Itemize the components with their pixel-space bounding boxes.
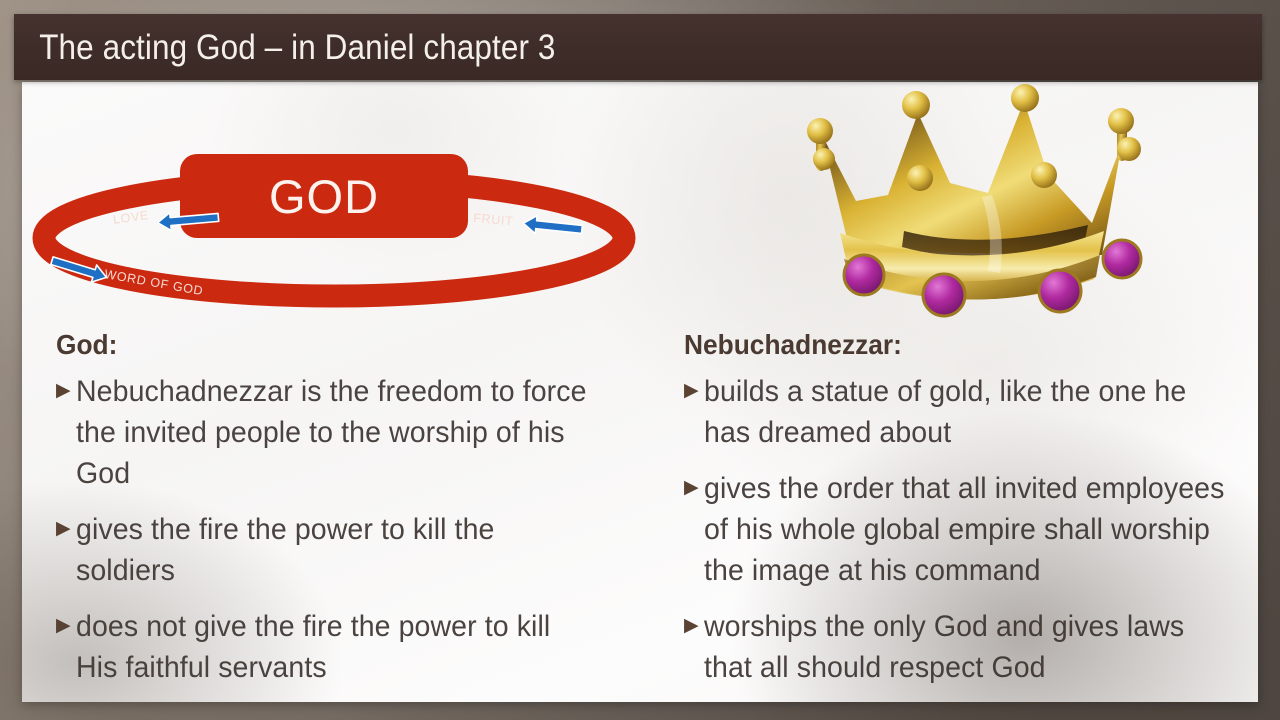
column-god-heading: God: <box>56 329 587 361</box>
list-item: ▶ builds a statue of gold, like the one … <box>684 371 1258 453</box>
crown-tip-balls <box>807 84 1141 191</box>
list-item-text: builds a statue of gold, like the one he… <box>704 371 1231 453</box>
bullet-triangle-icon: ▶ <box>56 370 76 411</box>
list-item-text: gives the order that all invited employe… <box>704 468 1231 591</box>
bullet-triangle-icon: ▶ <box>684 467 704 508</box>
bullet-triangle-icon: ▶ <box>684 370 704 411</box>
bullet-triangle-icon: ▶ <box>684 605 704 646</box>
column-god: God: ▶ Nebuchadnezzar is the freedom to … <box>56 329 621 702</box>
bullet-triangle-icon: ▶ <box>56 508 76 549</box>
list-item: ▶ gives the order that all invited emplo… <box>684 468 1258 591</box>
presentation-slide: The acting God – in Daniel chapter 3 GOD… <box>0 0 1280 720</box>
ring-label-fruit: FRUIT <box>473 211 514 228</box>
crown-icon <box>792 83 1162 333</box>
bullet-triangle-icon: ▶ <box>56 605 76 646</box>
slide-content-panel: GOD LOVE FRUIT WORD OF GOD <box>22 82 1258 702</box>
list-item: ▶ worships the only God and gives laws t… <box>684 606 1258 688</box>
god-cycle-diagram: GOD LOVE FRUIT WORD OF GOD <box>24 136 644 316</box>
list-item: ▶ gives the fire the power to kill the s… <box>56 509 621 591</box>
column-nebuchadnezzar-heading: Nebuchadnezzar: <box>684 329 1225 361</box>
god-box-label: GOD <box>269 170 379 223</box>
slide-title-bar: The acting God – in Daniel chapter 3 <box>14 14 1262 80</box>
list-item-text: gives the fire the power to kill the sol… <box>76 509 594 591</box>
list-item: ▶ does not give the fire the power to ki… <box>56 606 621 688</box>
list-item-text: Nebuchadnezzar is the freedom to force t… <box>76 371 594 494</box>
arrow-fruit-icon <box>522 214 583 238</box>
list-item: ▶ Nebuchadnezzar is the freedom to force… <box>56 371 621 494</box>
list-item-text: does not give the fire the power to kill… <box>76 606 594 688</box>
list-item-text: worships the only God and gives laws tha… <box>704 606 1231 688</box>
ring-label-fruit-text: FRUIT <box>473 211 514 228</box>
page-title: The acting God – in Daniel chapter 3 <box>14 30 556 65</box>
column-nebuchadnezzar: Nebuchadnezzar: ▶ builds a statue of gol… <box>684 329 1258 702</box>
